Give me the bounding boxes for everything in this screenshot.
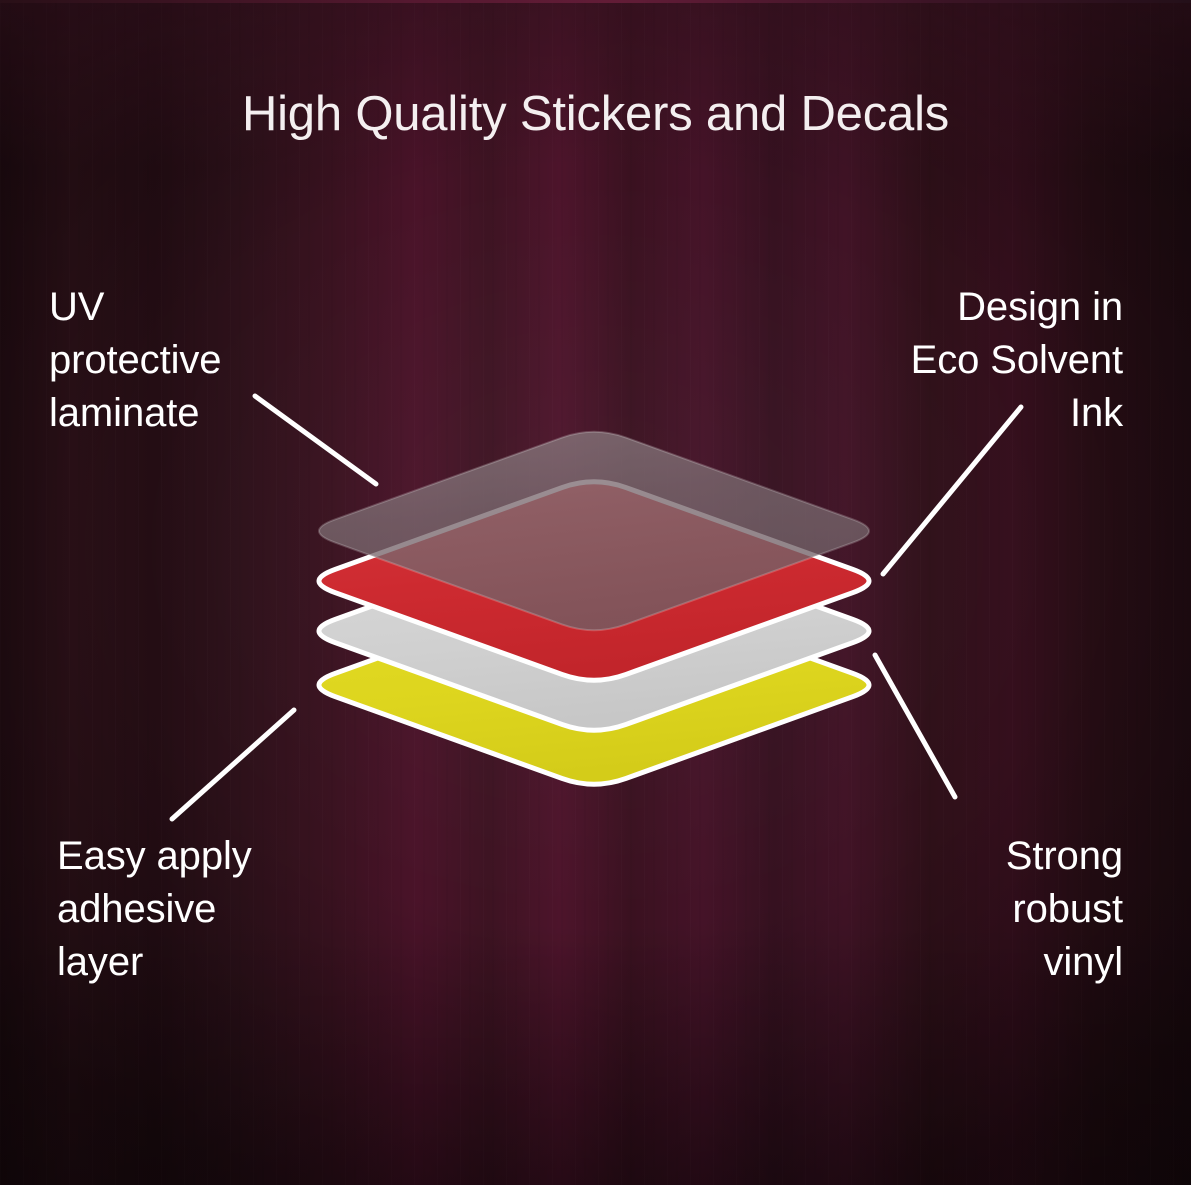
callout-label-uv-protective-laminate: UV protective laminate [49, 281, 221, 440]
callout-label-strong-robust-vinyl: Strong robust vinyl [1006, 830, 1123, 989]
page-title: High Quality Stickers and Decals [0, 86, 1191, 142]
infographic-canvas: High Quality Stickers and Decals [0, 0, 1191, 1185]
callout-label-design-in-eco-solvent-ink: Design in Eco Solvent Ink [911, 281, 1123, 440]
background-vignette [0, 0, 1191, 1185]
callout-label-easy-apply-adhesive-layer: Easy apply adhesive layer [57, 830, 252, 989]
background-top-edge [0, 0, 1191, 3]
